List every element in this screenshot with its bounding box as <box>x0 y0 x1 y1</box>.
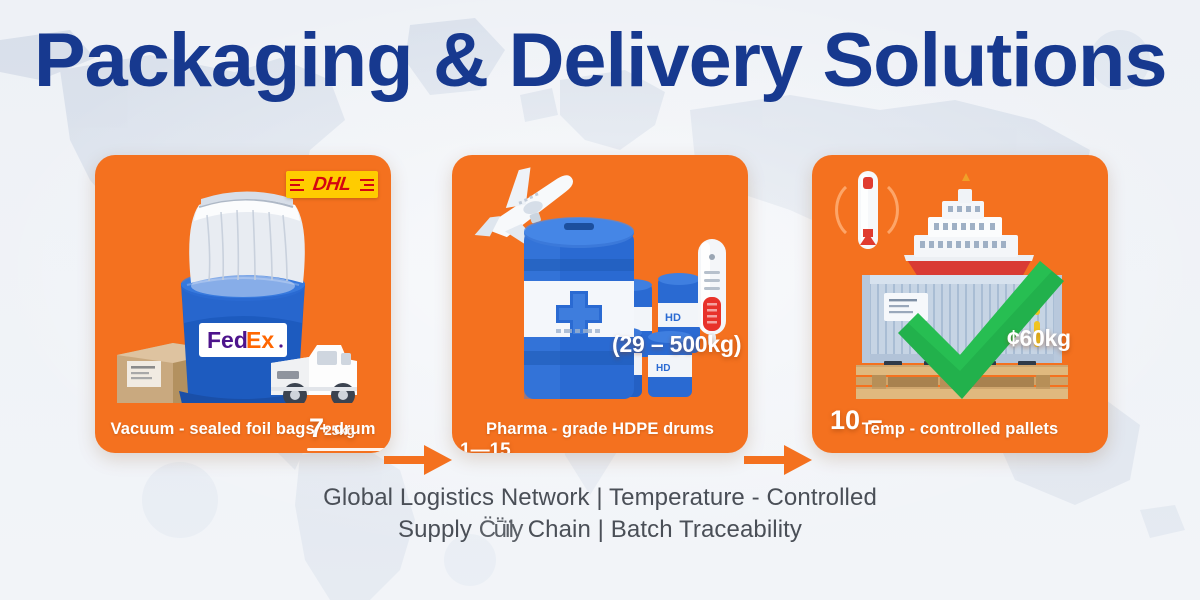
card-vacuum-sealed[interactable]: Fed Ex <box>95 155 391 453</box>
dhl-logo: DHL <box>286 171 378 198</box>
footer-line-1: Global Logistics Network | Temperature -… <box>0 482 1200 514</box>
page-title: Packaging & Delivery Solutions <box>34 18 1167 104</box>
svg-text:Fed: Fed <box>207 327 248 353</box>
side-range-label: 1—15, <box>460 440 514 453</box>
weight-label-60: ¢60kg <box>1007 325 1071 352</box>
connector-arrow-2 <box>744 443 814 477</box>
svg-text:HD: HD <box>656 363 670 374</box>
dhl-logo-text: DHL <box>312 174 353 196</box>
card-3-illustration <box>812 155 1108 403</box>
weight-range-label: (29 – 500kg) <box>612 331 741 358</box>
card-1-caption: Vacuum - sealed foil bags + drum <box>95 420 391 439</box>
card-pharma-hdpe[interactable]: HD HD HD HD <box>452 155 748 453</box>
hdpe-drum-icon <box>524 217 634 399</box>
cards-row: Fed Ex <box>0 155 1200 455</box>
page-title-container: Packaging & Delivery Solutions <box>0 18 1200 104</box>
weight-underline <box>307 448 391 451</box>
card-3-caption: Temp - controlled pallets <box>812 420 1108 439</box>
connector-arrow-1 <box>384 443 454 477</box>
card-temp-controlled[interactable]: ¢60kg 10 – 30 – 55, Temp - controlled pa… <box>812 155 1108 453</box>
svg-text:HD: HD <box>665 312 681 324</box>
side-range-value: 1—15 <box>460 440 511 453</box>
card-2-caption: Pharma - grade HDPE drums <box>452 420 748 439</box>
svg-text:Ex: Ex <box>246 327 274 353</box>
card-2-illustration: HD HD HD HD <box>452 155 748 403</box>
footer-line-2: Supply C̈ṻïly Chain | Batch Traceability <box>0 514 1200 546</box>
side-range-tick: , <box>511 447 514 453</box>
thermometer-sensor-icon <box>837 171 898 249</box>
footer-line-2-garbled: C̈ṻïly <box>479 516 521 543</box>
footer-line-2-after: Chain | Batch Traceability <box>521 516 802 543</box>
footer-line-2-before: Supply <box>398 516 479 543</box>
foil-bag-icon <box>189 192 305 284</box>
footer-tagline: Global Logistics Network | Temperature -… <box>0 482 1200 546</box>
cargo-ship-icon <box>904 173 1034 277</box>
